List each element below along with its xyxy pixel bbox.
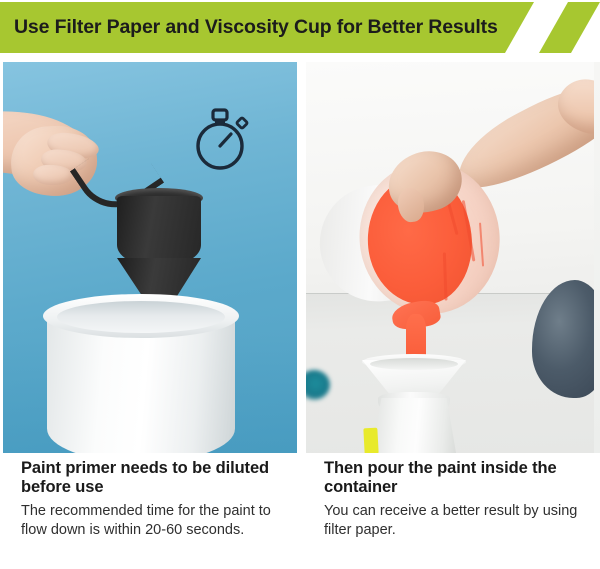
white-container: [366, 398, 462, 453]
caption-right: Then pour the paint inside the container…: [324, 459, 586, 540]
caption-heading: Then pour the paint inside the container: [324, 459, 586, 497]
funnel-over-bucket-photo: [3, 62, 297, 453]
caption-heading: Paint primer needs to be diluted before …: [21, 459, 283, 497]
stopwatch-icon: [193, 104, 251, 172]
photo-edge-strip: [594, 62, 600, 453]
yellow-label: [363, 428, 378, 453]
bucket-rim-inner: [57, 301, 225, 333]
caption-body: The recommended time for the paint to fl…: [21, 502, 283, 540]
page-title: Use Filter Paper and Viscosity Cup for B…: [14, 13, 494, 43]
header-banner: Use Filter Paper and Viscosity Cup for B…: [0, 0, 600, 55]
panel-grid: Paint primer needs to be diluted before …: [0, 55, 600, 569]
header-green-stripe: [539, 2, 600, 53]
pouring-paint-photo: [306, 62, 600, 453]
panel-left: Paint primer needs to be diluted before …: [3, 55, 297, 569]
funnel-cup: [117, 196, 201, 266]
panel-right: Then pour the paint inside the container…: [306, 55, 600, 569]
white-bucket: [43, 294, 239, 453]
caption-left: Paint primer needs to be diluted before …: [21, 459, 283, 540]
caption-body: You can receive a better result by using…: [324, 502, 586, 540]
cone-funnel-mouth: [370, 358, 458, 370]
infographic-root: Use Filter Paper and Viscosity Cup for B…: [0, 0, 600, 569]
